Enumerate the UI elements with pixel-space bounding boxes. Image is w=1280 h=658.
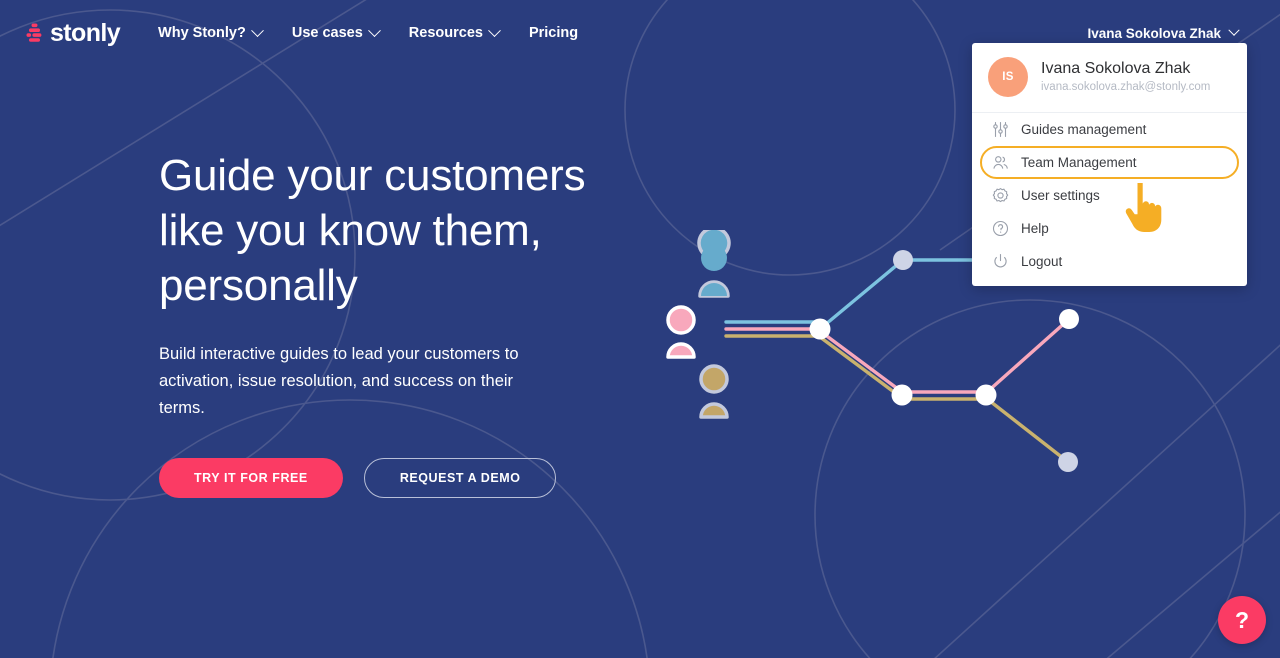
- node-top: [893, 250, 913, 270]
- flow-connectors: [726, 260, 1070, 462]
- user-menu-trigger[interactable]: Ivana Sokolova Zhak: [1087, 26, 1238, 41]
- question-circle-icon: [992, 220, 1009, 237]
- hero-section: Guide your customers like you know them,…: [159, 148, 679, 422]
- user-display-name: Ivana Sokolova Zhak: [1041, 59, 1210, 78]
- menu-item-label: User settings: [1021, 188, 1100, 203]
- menu-item-label: Guides management: [1021, 122, 1146, 137]
- chevron-down-icon: [1228, 25, 1239, 36]
- hero-cta-group: TRY IT FOR FREE REQUEST A DEMO: [159, 458, 556, 498]
- nav-item-label: Use cases: [292, 25, 363, 41]
- node-hub: [810, 319, 831, 340]
- avatar: IS: [988, 57, 1028, 97]
- node-mid-right: [976, 385, 997, 406]
- hero-subtitle: Build interactive guides to lead your cu…: [159, 341, 529, 422]
- person-avatar-gold: [701, 366, 727, 417]
- node-bottom: [1058, 452, 1078, 472]
- menu-item-guides-management[interactable]: Guides management: [980, 113, 1239, 146]
- menu-item-label: Team Management: [1021, 155, 1137, 170]
- brand-name: stonly: [50, 21, 120, 46]
- menu-item-team-management[interactable]: Team Management: [980, 146, 1239, 179]
- brand-logo[interactable]: stonly: [26, 21, 120, 46]
- try-it-for-free-button[interactable]: TRY IT FOR FREE: [159, 458, 343, 498]
- node-mid-left: [892, 385, 913, 406]
- chevron-down-icon: [488, 24, 501, 37]
- nav-item-use-cases[interactable]: Use cases: [292, 25, 379, 41]
- nav-item-label: Pricing: [529, 25, 578, 41]
- page-root: stonly Why Stonly? Use cases Resources P…: [0, 0, 1280, 658]
- nav-item-label: Resources: [409, 25, 483, 41]
- chevron-down-icon: [368, 24, 381, 37]
- node-right: [1059, 309, 1079, 329]
- menu-item-label: Help: [1021, 221, 1049, 236]
- people-icon: [992, 154, 1009, 171]
- nav-item-resources[interactable]: Resources: [409, 25, 499, 41]
- gear-icon: [992, 187, 1009, 204]
- page-title: Guide your customers like you know them,…: [159, 148, 679, 313]
- user-account-dropdown: IS Ivana Sokolova Zhak ivana.sokolova.zh…: [972, 43, 1247, 286]
- nav-item-pricing[interactable]: Pricing: [529, 25, 578, 41]
- help-widget-button[interactable]: ?: [1218, 596, 1266, 644]
- sliders-icon: [992, 121, 1009, 138]
- chevron-down-icon: [251, 24, 264, 37]
- primary-nav-links: Why Stonly? Use cases Resources Pricing: [158, 25, 578, 41]
- dropdown-user-header: IS Ivana Sokolova Zhak ivana.sokolova.zh…: [972, 43, 1247, 113]
- nav-item-label: Why Stonly?: [158, 25, 246, 41]
- user-menu-trigger-label: Ivana Sokolova Zhak: [1087, 26, 1221, 41]
- power-icon: [992, 253, 1009, 270]
- menu-item-user-settings[interactable]: User settings: [980, 179, 1239, 212]
- request-a-demo-button[interactable]: REQUEST A DEMO: [364, 458, 557, 498]
- menu-item-label: Logout: [1021, 254, 1062, 269]
- user-email: ivana.sokolova.zhak@stonly.com: [1041, 80, 1210, 95]
- nav-item-why-stonly[interactable]: Why Stonly?: [158, 25, 262, 41]
- user-identity: Ivana Sokolova Zhak ivana.sokolova.zhak@…: [1041, 59, 1210, 95]
- menu-item-help[interactable]: Help: [980, 212, 1239, 245]
- stonly-pyramid-logo-icon: [26, 23, 43, 44]
- menu-item-logout[interactable]: Logout: [980, 245, 1239, 278]
- person-avatar-blue: [699, 230, 729, 296]
